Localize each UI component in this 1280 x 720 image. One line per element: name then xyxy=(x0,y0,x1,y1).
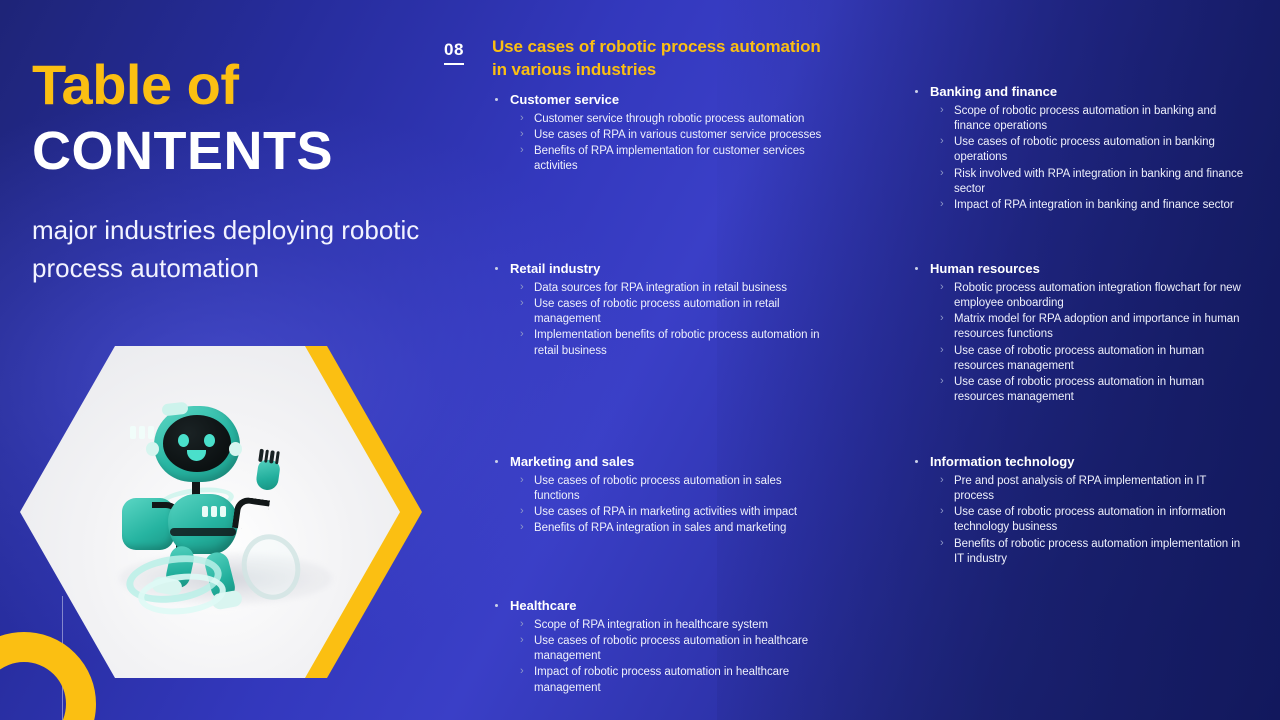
toc-item[interactable]: ›Customer service through robotic proces… xyxy=(534,112,828,127)
toc-group-banking-and-finance[interactable]: Banking and finance ›Scope of robotic pr… xyxy=(908,84,1248,214)
chevron-right-icon: › xyxy=(940,343,944,358)
toc-item[interactable]: ›Use cases of robotic process automation… xyxy=(534,474,828,504)
toc-group-heading-label: Marketing and sales xyxy=(510,454,634,469)
chevron-right-icon: › xyxy=(520,504,524,519)
robot-head xyxy=(154,406,240,482)
bullet-dot-icon xyxy=(495,98,498,101)
toc-item[interactable]: ›Risk involved with RPA integration in b… xyxy=(954,167,1248,197)
toc-group-heading-label: Retail industry xyxy=(510,261,600,276)
toc-item-label: Use cases of robotic process automation … xyxy=(534,298,780,325)
title-line-2: CONTENTS xyxy=(32,121,432,181)
toc-item-label: Benefits of RPA implementation for custo… xyxy=(534,145,805,172)
toc-group-heading: Information technology xyxy=(908,454,1248,471)
toc-group-heading: Banking and finance xyxy=(908,84,1248,101)
chevron-right-icon: › xyxy=(940,473,944,488)
chevron-right-icon: › xyxy=(520,280,524,295)
robot-ear-right xyxy=(229,442,242,456)
toc-item[interactable]: ›Use case of robotic process automation … xyxy=(954,344,1248,374)
toc-group-heading: Human resources xyxy=(908,261,1248,278)
chevron-right-icon: › xyxy=(520,327,524,342)
page-title: Table of CONTENTS xyxy=(32,56,432,181)
toc-item[interactable]: ›Implementation benefits of robotic proc… xyxy=(534,328,828,358)
chevron-right-icon: › xyxy=(940,374,944,389)
robot-belt xyxy=(170,528,236,536)
toc-item-label: Scope of robotic process automation in b… xyxy=(954,105,1216,132)
toc-sublist: ›Robotic process automation integration … xyxy=(908,281,1248,405)
chevron-right-icon: › xyxy=(940,134,944,149)
toc-item[interactable]: ›Use case of robotic process automation … xyxy=(954,375,1248,405)
toc-item-label: Use case of robotic process automation i… xyxy=(954,506,1226,533)
toc-group-human-resources[interactable]: Human resources ›Robotic process automat… xyxy=(908,261,1248,406)
toc-item-label: Data sources for RPA integration in reta… xyxy=(534,282,787,294)
toc-item-label: Impact of RPA integration in banking and… xyxy=(954,199,1234,211)
chevron-right-icon: › xyxy=(940,311,944,326)
toc-item-label: Customer service through robotic process… xyxy=(534,113,804,125)
chevron-right-icon: › xyxy=(520,473,524,488)
toc-sublist: ›Data sources for RPA integration in ret… xyxy=(488,281,828,359)
toc-item[interactable]: ›Robotic process automation integration … xyxy=(954,281,1248,311)
hexagon-image-frame xyxy=(20,346,400,678)
robot-body xyxy=(168,494,238,554)
toc-sublist: ›Scope of robotic process automation in … xyxy=(908,104,1248,213)
chevron-right-icon: › xyxy=(520,633,524,648)
toc-group-heading-label: Information technology xyxy=(930,454,1074,469)
toc-item[interactable]: ›Benefits of RPA implementation for cust… xyxy=(534,144,828,174)
toc-group-information-technology[interactable]: Information technology ›Pre and post ana… xyxy=(908,454,1248,568)
chevron-right-icon: › xyxy=(520,296,524,311)
toc-item[interactable]: ›Pre and post analysis of RPA implementa… xyxy=(954,474,1248,504)
toc-item-label: Use cases of robotic process automation … xyxy=(954,136,1215,163)
title-line-1: Table of xyxy=(32,56,432,115)
toc-sublist: ›Scope of RPA integration in healthcare … xyxy=(488,618,828,696)
chevron-right-icon: › xyxy=(940,103,944,118)
toc-sublist: ›Customer service through robotic proces… xyxy=(488,112,828,175)
toc-item[interactable]: ›Use cases of RPA in various customer se… xyxy=(534,128,828,143)
toc-group-customer-service[interactable]: Customer service ›Customer service throu… xyxy=(488,92,828,176)
toc-group-marketing-and-sales[interactable]: Marketing and sales ›Use cases of roboti… xyxy=(488,454,828,538)
chevron-right-icon: › xyxy=(520,127,524,142)
toc-item[interactable]: ›Use cases of robotic process automation… xyxy=(534,634,828,664)
toc-item-label: Scope of RPA integration in healthcare s… xyxy=(534,619,768,631)
bullet-dot-icon xyxy=(915,267,918,270)
toc-group-heading-label: Banking and finance xyxy=(930,84,1057,99)
chevron-right-icon: › xyxy=(520,520,524,535)
toc-item-label: Use case of robotic process automation i… xyxy=(954,345,1204,372)
toc-item[interactable]: ›Data sources for RPA integration in ret… xyxy=(534,281,828,296)
toc-item[interactable]: ›Use cases of RPA in marketing activitie… xyxy=(534,505,828,520)
robot-backpack-lights xyxy=(130,426,156,438)
robot-illustration xyxy=(116,406,316,616)
robot-fingers xyxy=(258,449,280,465)
chevron-right-icon: › xyxy=(940,166,944,181)
toc-item[interactable]: ›Impact of robotic process automation in… xyxy=(534,665,828,695)
bullet-dot-icon xyxy=(915,460,918,463)
toc-item-label: Use cases of RPA in marketing activities… xyxy=(534,506,797,518)
toc-group-healthcare[interactable]: Healthcare ›Scope of RPA integration in … xyxy=(488,598,828,697)
slide-canvas: Table of CONTENTS major industries deplo… xyxy=(0,0,1280,720)
robot-ear-left xyxy=(146,442,159,456)
toc-item[interactable]: ›Impact of RPA integration in banking an… xyxy=(954,198,1248,213)
toc-item[interactable]: ›Benefits of RPA integration in sales an… xyxy=(534,521,828,536)
toc-item-label: Benefits of robotic process automation i… xyxy=(954,538,1240,565)
toc-group-heading: Retail industry xyxy=(488,261,828,278)
toc-item-label: Risk involved with RPA integration in ba… xyxy=(954,168,1243,195)
toc-item-label: Use case of robotic process automation i… xyxy=(954,376,1204,403)
contents-columns: Customer service ›Customer service throu… xyxy=(444,36,1254,710)
robot-eye-left xyxy=(178,434,189,447)
toc-sublist: ›Use cases of robotic process automation… xyxy=(488,474,828,537)
robot-glass-dome xyxy=(234,527,308,606)
toc-item-label: Pre and post analysis of RPA implementat… xyxy=(954,475,1206,502)
toc-item-label: Implementation benefits of robotic proce… xyxy=(534,329,820,356)
toc-item-label: Use cases of robotic process automation … xyxy=(534,475,782,502)
contents-panel: 08 Use cases of robotic process automati… xyxy=(444,36,1254,710)
toc-item-label: Matrix model for RPA adoption and import… xyxy=(954,313,1239,340)
bullet-dot-icon xyxy=(915,90,918,93)
chevron-right-icon: › xyxy=(940,197,944,212)
robot-eye-right xyxy=(204,434,215,447)
chevron-right-icon: › xyxy=(520,143,524,158)
bullet-dot-icon xyxy=(495,604,498,607)
toc-item[interactable]: ›Use case of robotic process automation … xyxy=(954,505,1248,535)
robot-face-screen xyxy=(163,415,231,472)
toc-item-label: Robotic process automation integration f… xyxy=(954,282,1241,309)
toc-item-label: Impact of robotic process automation in … xyxy=(534,666,789,693)
toc-group-retail-industry[interactable]: Retail industry ›Data sources for RPA in… xyxy=(488,261,828,360)
robot-right-arm xyxy=(232,496,270,532)
toc-group-heading-label: Human resources xyxy=(930,261,1040,276)
bullet-dot-icon xyxy=(495,267,498,270)
toc-group-heading: Marketing and sales xyxy=(488,454,828,471)
toc-item[interactable]: ›Benefits of robotic process automation … xyxy=(954,537,1248,567)
toc-item[interactable]: ›Matrix model for RPA adoption and impor… xyxy=(954,312,1248,342)
bullet-dot-icon xyxy=(495,460,498,463)
toc-group-heading: Customer service xyxy=(488,92,828,109)
robot-chest-lights xyxy=(202,506,228,516)
toc-item[interactable]: ›Use cases of robotic process automation… xyxy=(954,135,1248,165)
toc-group-heading-label: Healthcare xyxy=(510,598,576,613)
toc-item-label: Use cases of robotic process automation … xyxy=(534,635,808,662)
toc-item[interactable]: ›Use cases of robotic process automation… xyxy=(534,297,828,327)
toc-sublist: ›Pre and post analysis of RPA implementa… xyxy=(908,474,1248,567)
toc-group-heading: Healthcare xyxy=(488,598,828,615)
chevron-right-icon: › xyxy=(940,504,944,519)
chevron-right-icon: › xyxy=(520,111,524,126)
robot-mouth xyxy=(187,450,206,461)
toc-group-heading-label: Customer service xyxy=(510,92,619,107)
chevron-right-icon: › xyxy=(940,280,944,295)
chevron-right-icon: › xyxy=(940,536,944,551)
chevron-right-icon: › xyxy=(520,617,524,632)
toc-item-label: Benefits of RPA integration in sales and… xyxy=(534,522,786,534)
toc-item[interactable]: ›Scope of RPA integration in healthcare … xyxy=(534,618,828,633)
chevron-right-icon: › xyxy=(520,664,524,679)
toc-item-label: Use cases of RPA in various customer ser… xyxy=(534,129,821,141)
subtitle-text: major industries deploying robotic proce… xyxy=(32,212,422,288)
toc-item[interactable]: ›Scope of robotic process automation in … xyxy=(954,104,1248,134)
